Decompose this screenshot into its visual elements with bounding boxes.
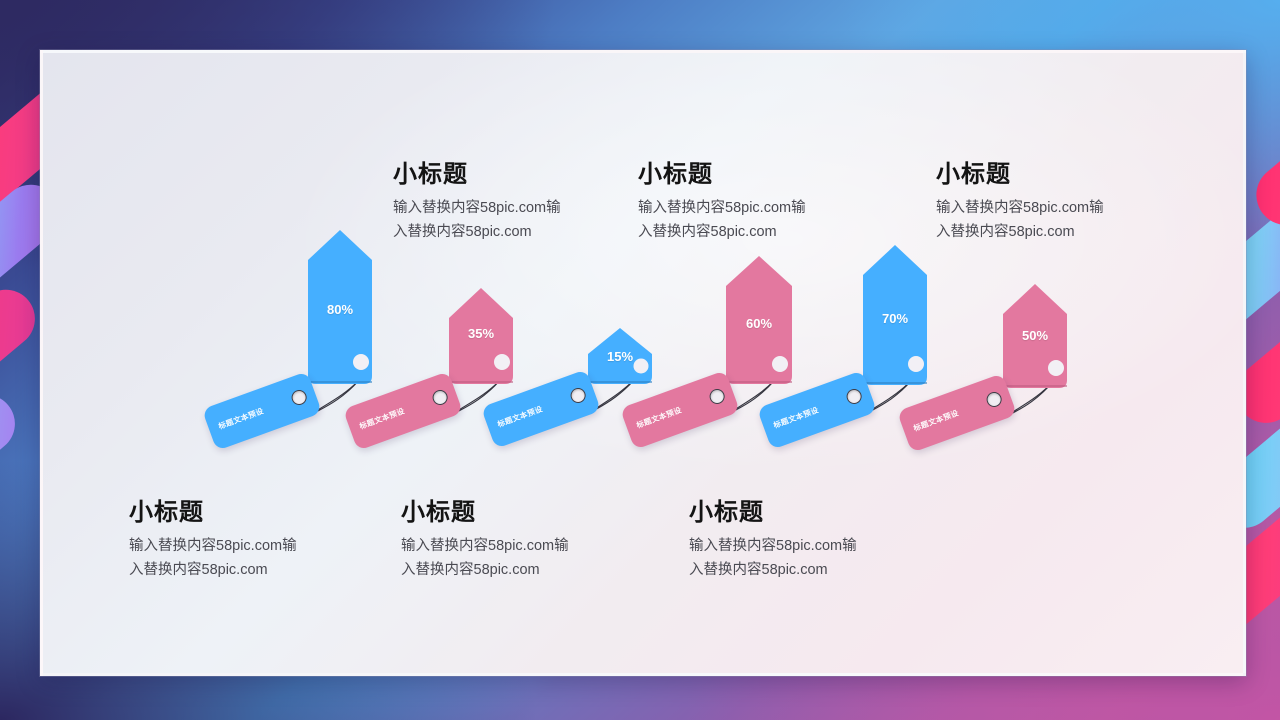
pentagon-shape-pink <box>726 256 792 384</box>
pentagon-shape-pink <box>1003 284 1067 388</box>
hanging-label-text: 标题文本预设 <box>912 407 960 434</box>
caption-line-2: 入替换内容58pic.com <box>401 558 569 582</box>
caption-line-2: 入替换内容58pic.com <box>638 220 806 244</box>
hanging-label-text: 标题文本预设 <box>496 403 544 430</box>
caption-line-1: 输入替换内容58pic.com输 <box>393 196 561 220</box>
pentagon-tag-5[interactable]: 70% <box>863 245 927 385</box>
caption-line-2: 入替换内容58pic.com <box>936 220 1104 244</box>
pentagon-tag-6[interactable]: 50% <box>1003 284 1067 388</box>
pentagon-shape-blue <box>308 230 372 384</box>
hanging-label-text: 标题文本预设 <box>217 405 265 432</box>
content-panel: 小标题 输入替换内容58pic.com输 入替换内容58pic.com 小标题 … <box>40 50 1246 676</box>
caption-block-4: 小标题 输入替换内容58pic.com输 入替换内容58pic.com <box>638 163 806 245</box>
caption-line-1: 输入替换内容58pic.com输 <box>401 534 569 558</box>
caption-line-2: 入替换内容58pic.com <box>689 558 857 582</box>
caption-line-2: 入替换内容58pic.com <box>393 220 561 244</box>
caption-block-6: 小标题 输入替换内容58pic.com输 入替换内容58pic.com <box>936 163 1104 245</box>
caption-block-3: 小标题 输入替换内容58pic.com输 入替换内容58pic.com <box>401 501 569 583</box>
caption-line-2: 入替换内容58pic.com <box>129 558 297 582</box>
hanging-label-hole <box>569 386 588 405</box>
pentagon-tag-4[interactable]: 60% <box>726 256 792 384</box>
hanging-label-6[interactable]: 标题文本预设 <box>897 373 1017 453</box>
hanging-label-body: 标题文本预设 <box>897 373 1017 453</box>
pentagon-tag-3[interactable]: 15% <box>588 328 652 384</box>
caption-heading: 小标题 <box>638 163 806 187</box>
hanging-label-text: 标题文本预设 <box>772 404 820 431</box>
hanging-label-hole <box>290 388 309 407</box>
caption-heading: 小标题 <box>401 501 569 525</box>
caption-line-1: 输入替换内容58pic.com输 <box>936 196 1104 220</box>
hanging-label-1[interactable]: 标题文本预设 <box>202 371 322 451</box>
pentagon-shape-pink <box>449 288 513 384</box>
hanging-label-text: 标题文本预设 <box>635 404 683 431</box>
pentagon-shape-blue <box>588 328 652 384</box>
caption-line-1: 输入替换内容58pic.com输 <box>129 534 297 558</box>
caption-block-5: 小标题 输入替换内容58pic.com输 入替换内容58pic.com <box>689 501 857 583</box>
caption-block-1: 小标题 输入替换内容58pic.com输 入替换内容58pic.com <box>129 501 297 583</box>
hanging-label-text: 标题文本预设 <box>358 405 406 432</box>
hanging-label-body: 标题文本预设 <box>202 371 322 451</box>
pentagon-shape-blue <box>863 245 927 385</box>
hanging-label-hole <box>708 387 727 406</box>
pentagon-tag-2[interactable]: 35% <box>449 288 513 384</box>
caption-line-1: 输入替换内容58pic.com输 <box>638 196 806 220</box>
caption-heading: 小标题 <box>689 501 857 525</box>
caption-block-2: 小标题 输入替换内容58pic.com输 入替换内容58pic.com <box>393 163 561 245</box>
hanging-label-hole <box>985 390 1004 409</box>
caption-line-1: 输入替换内容58pic.com输 <box>689 534 857 558</box>
hanging-label-hole <box>431 388 450 407</box>
caption-heading: 小标题 <box>936 163 1104 187</box>
pentagon-tag-1[interactable]: 80% <box>308 230 372 384</box>
slide-canvas: 小标题 输入替换内容58pic.com输 入替换内容58pic.com 小标题 … <box>0 0 1280 720</box>
caption-heading: 小标题 <box>393 163 561 187</box>
hanging-label-hole <box>845 387 864 406</box>
caption-heading: 小标题 <box>129 501 297 525</box>
